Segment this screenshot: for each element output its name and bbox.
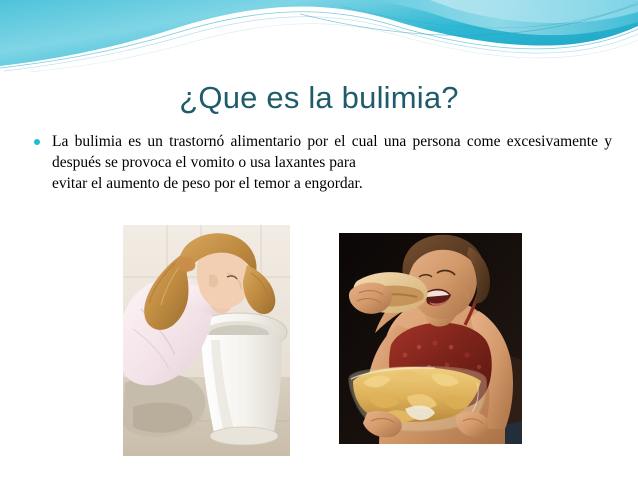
bullet-text-line-1: La bulimia es un trastornó alimentario p… xyxy=(52,131,612,173)
page-title: ¿Que es la bulimia? xyxy=(0,80,638,116)
woman-binge-eating-photo xyxy=(339,233,522,444)
header-wave-decoration xyxy=(0,0,638,72)
woman-vomiting-toilet-photo xyxy=(123,225,290,456)
presentation-slide: ¿Que es la bulimia? La bulimia es un tra… xyxy=(0,0,638,479)
bullet-point-icon xyxy=(34,139,40,145)
body-content: La bulimia es un trastornó alimentario p… xyxy=(26,131,612,194)
bullet-text-line-2: evitar el aumento de peso por el temor a… xyxy=(52,173,612,194)
list-item: La bulimia es un trastornó alimentario p… xyxy=(26,131,612,194)
